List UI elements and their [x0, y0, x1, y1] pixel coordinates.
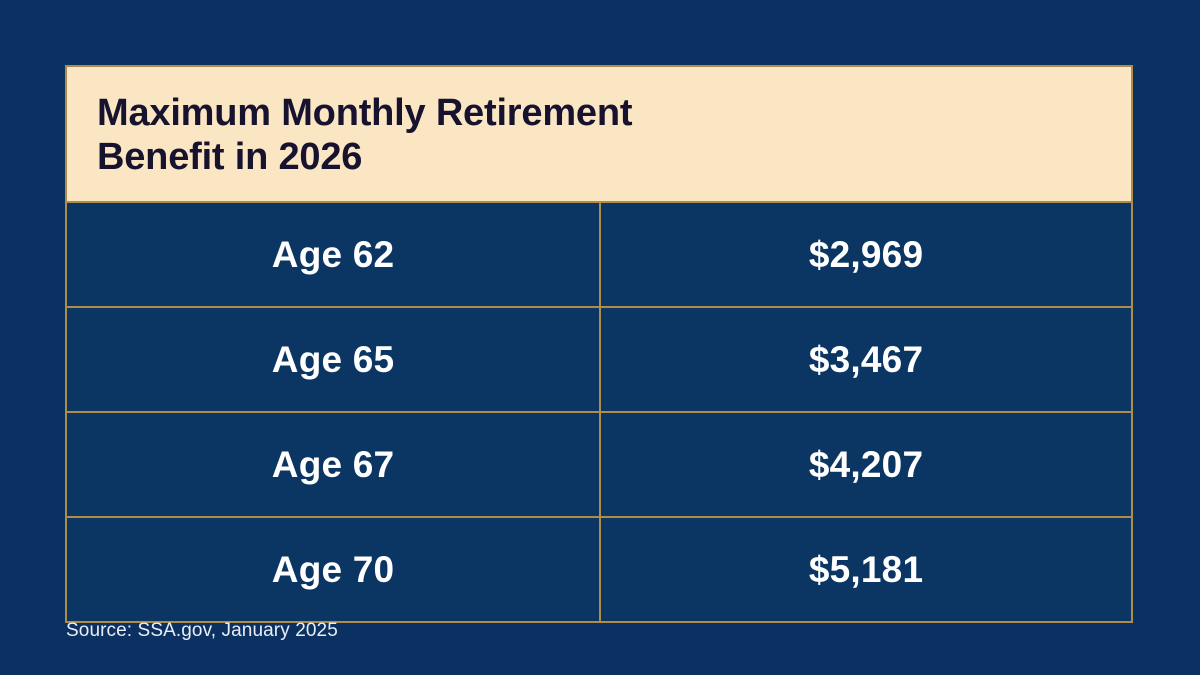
cell-age: Age 67: [67, 413, 601, 516]
source-note: Source: SSA.gov, January 2025: [66, 620, 338, 642]
table-body: Age 62 $2,969 Age 65 $3,467 Age 67 $4,20…: [67, 203, 1131, 621]
table-row: Age 67 $4,207: [67, 411, 1131, 516]
page-title: Maximum Monthly Retirement Benefit in 20…: [97, 91, 1101, 179]
table-row: Age 65 $3,467: [67, 306, 1131, 411]
table-header: Maximum Monthly Retirement Benefit in 20…: [67, 67, 1131, 203]
slide-canvas: Maximum Monthly Retirement Benefit in 20…: [0, 0, 1200, 675]
benefit-table: Maximum Monthly Retirement Benefit in 20…: [65, 65, 1133, 623]
table-row: Age 62 $2,969: [67, 203, 1131, 306]
table-row: Age 70 $5,181: [67, 516, 1131, 621]
cell-age: Age 65: [67, 308, 601, 411]
cell-age: Age 62: [67, 203, 601, 306]
cell-amount: $2,969: [601, 203, 1131, 306]
cell-amount: $5,181: [601, 518, 1131, 621]
cell-amount: $3,467: [601, 308, 1131, 411]
cell-amount: $4,207: [601, 413, 1131, 516]
cell-age: Age 70: [67, 518, 601, 621]
